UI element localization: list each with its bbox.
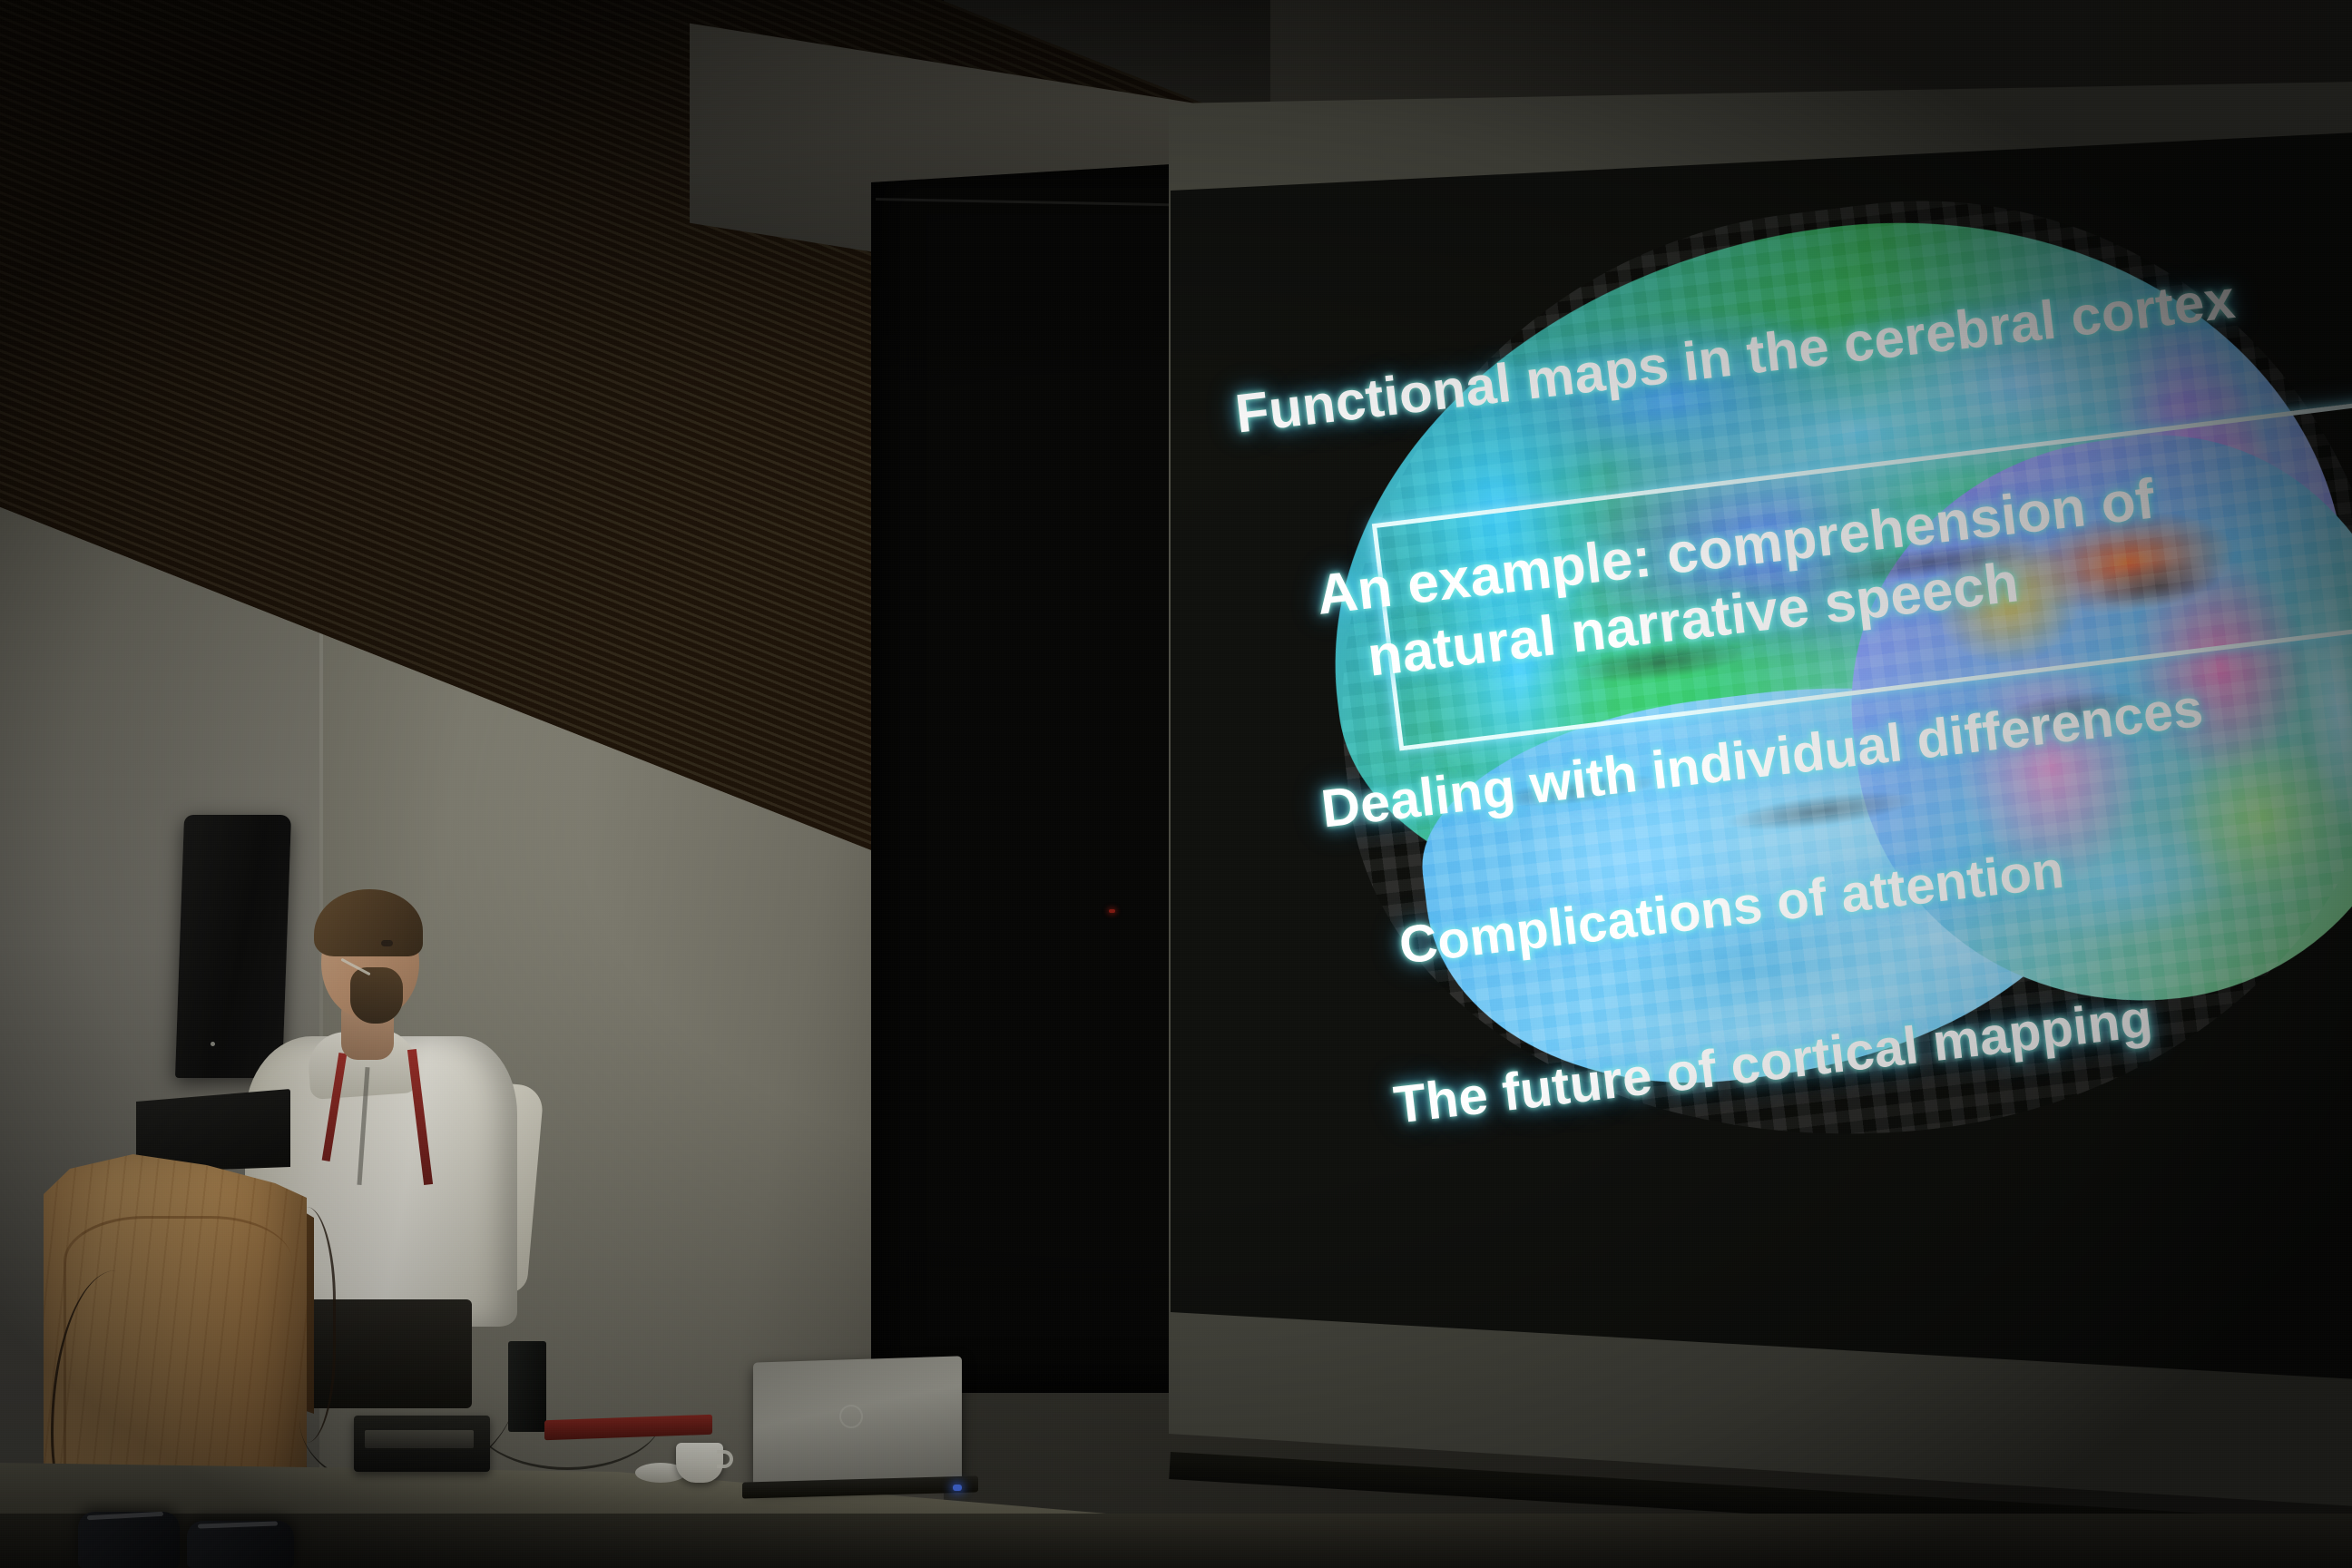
power-led-icon [953, 1485, 962, 1491]
laptop-logo-icon [839, 1405, 863, 1428]
lecture-hall-photo: Functional maps in the cerebral cortex A… [0, 0, 2352, 1568]
projection-screen: Functional maps in the cerebral cortex A… [1169, 82, 2352, 1568]
presenter-legs [309, 1299, 472, 1408]
stage-front-edge [0, 1514, 2352, 1568]
presenter-hair [314, 889, 423, 956]
standby-led-icon [1109, 909, 1115, 913]
slide-bullet-list: Functional maps in the cerebral cortex A… [1221, 193, 2352, 1359]
slide-bullet-5: Complications of attention [1396, 839, 2066, 976]
slide-bullet-6: The future of cortical mapping [1391, 988, 2156, 1136]
av-black-box [508, 1341, 546, 1432]
projected-slide: Functional maps in the cerebral cortex A… [1169, 82, 2352, 1568]
speaker-led-icon [211, 1042, 215, 1046]
chair-back-left [78, 1512, 180, 1568]
presenter-beard [350, 967, 403, 1024]
presenter-eye [381, 940, 393, 946]
audio-mixer-panel [365, 1430, 474, 1448]
